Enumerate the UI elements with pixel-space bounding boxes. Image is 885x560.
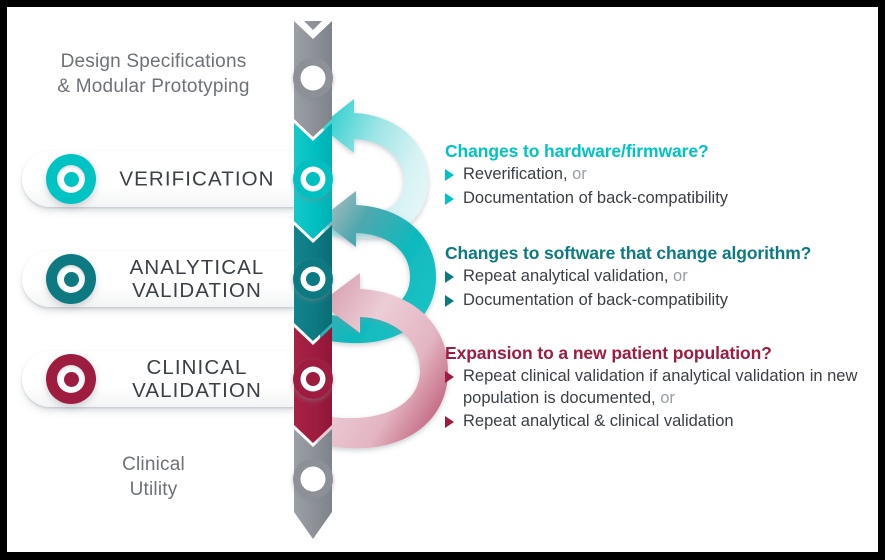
loop-bullet-text: Repeat analytical & clinical validation (463, 412, 734, 430)
triangle-right-icon (445, 371, 454, 383)
target-ring-icon-clinical (46, 354, 96, 404)
stage-card-verification[interactable]: VERIFICATION (22, 151, 300, 207)
target-ring-icon-verification (46, 154, 96, 204)
stage-label-clinical-utility: Clinical Utility (27, 452, 280, 502)
loop-bullet-item: Repeat clinical validation if analytical… (445, 366, 875, 409)
loop-bullet-text: Documentation of back-compatibility (463, 189, 728, 207)
spine-node-clinical-utility[interactable] (293, 459, 333, 499)
spine-node-design[interactable] (293, 58, 333, 98)
loop-bullet-suffix: or (568, 165, 587, 183)
stage-card-label-verification: VERIFICATION (104, 168, 290, 191)
spine-node-verification[interactable] (293, 159, 333, 199)
loop-bullet-suffix: or (656, 389, 675, 407)
loop-bullet-item: Repeat analytical & clinical validation (445, 411, 875, 433)
triangle-right-icon (445, 295, 454, 307)
loop-bullet-item: Documentation of back-compatibility (445, 188, 875, 210)
loop-bullet-item: Reverification, or (445, 164, 875, 186)
loop-text-block-software-algorithm: Changes to software that change algorith… (445, 243, 875, 311)
loop-heading-hardware-firmware: Changes to hardware/firmware? (445, 141, 875, 162)
stage-card-label-analytical-validation: ANALYTICAL VALIDATION (104, 256, 290, 302)
process-flow-spine (280, 7, 460, 552)
loop-bullet-item: Repeat analytical validation, or (445, 266, 875, 288)
loop-bullet-text: Documentation of back-compatibility (463, 291, 728, 309)
stage-card-label-clinical-validation: CLINICAL VALIDATION (104, 356, 290, 402)
spine-node-clinical[interactable] (293, 359, 333, 399)
diagram-frame: Design Specifications & Modular Prototyp… (7, 7, 878, 552)
stage-card-clinical-validation[interactable]: CLINICAL VALIDATION (22, 351, 300, 407)
loop-bullet-text: Reverification, (463, 165, 568, 183)
loop-bullet-suffix: or (668, 267, 687, 285)
loop-bullet-item: Documentation of back-compatibility (445, 290, 875, 312)
stage-label-design: Design Specifications & Modular Prototyp… (27, 49, 280, 99)
triangle-right-icon (445, 169, 454, 181)
loop-text-block-hardware-firmware: Changes to hardware/firmware? Reverifica… (445, 141, 875, 209)
triangle-right-icon (445, 193, 454, 205)
stage-card-analytical-validation[interactable]: ANALYTICAL VALIDATION (22, 251, 300, 307)
triangle-right-icon (445, 271, 454, 283)
loop-bullet-text: Repeat analytical validation, (463, 267, 668, 285)
loop-heading-new-patient-population: Expansion to a new patient population? (445, 343, 875, 364)
loop-heading-software-algorithm: Changes to software that change algorith… (445, 243, 875, 264)
spine-node-analytical[interactable] (293, 259, 333, 299)
loop-text-block-new-patient-population: Expansion to a new patient population? R… (445, 343, 875, 433)
target-ring-icon-analytical (46, 254, 96, 304)
triangle-right-icon (445, 416, 454, 428)
